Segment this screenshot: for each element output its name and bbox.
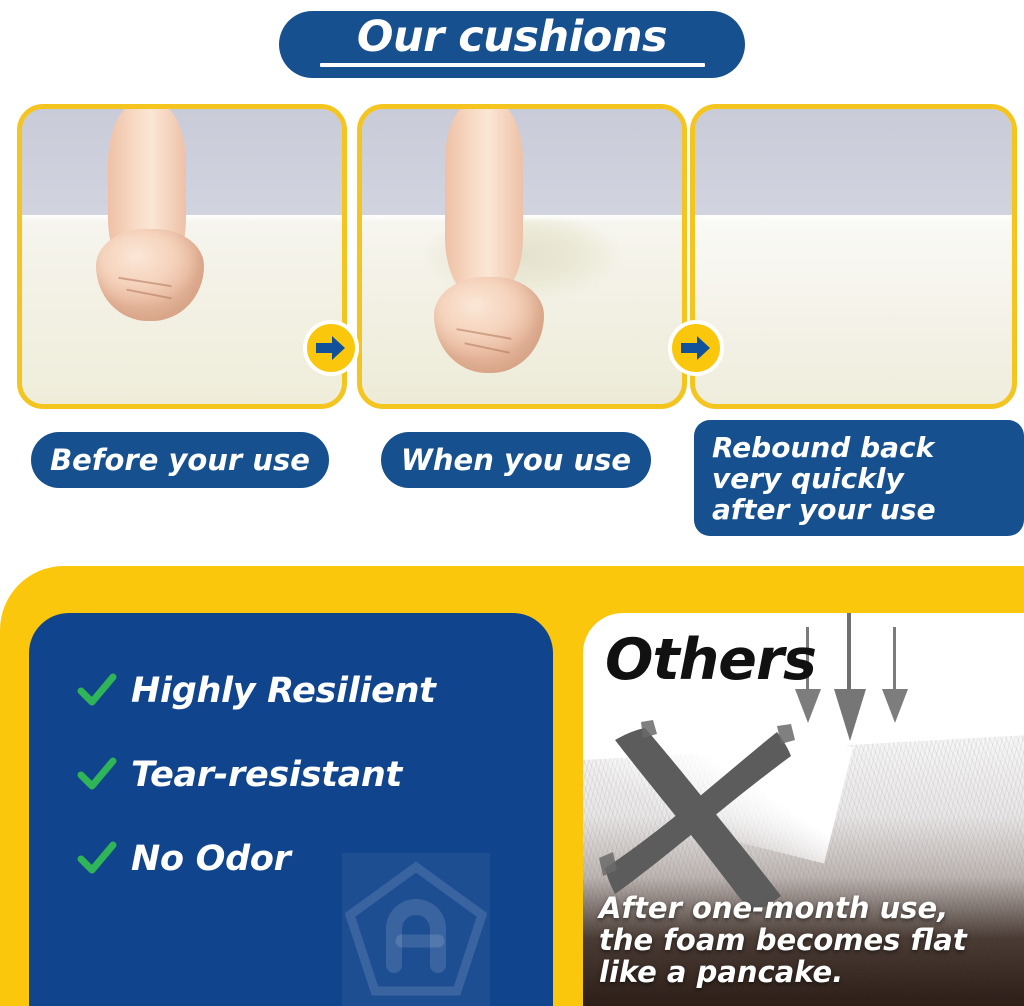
feature-item: Tear-resistant bbox=[77, 755, 402, 795]
others-caption: After one-month use, the foam becomes fl… bbox=[599, 892, 967, 988]
caption-line-3: after your use bbox=[712, 494, 936, 525]
caption-text: Before your use bbox=[50, 443, 310, 477]
feature-label: Tear-resistant bbox=[131, 755, 402, 795]
page-title-banner: Our cushions bbox=[279, 11, 745, 78]
caption-line-1: Rebound back bbox=[712, 432, 934, 463]
page-title: Our cushions bbox=[357, 13, 667, 61]
down-arrow-icon bbox=[879, 627, 911, 723]
feature-item: No Odor bbox=[77, 839, 291, 879]
feature-label: No Odor bbox=[131, 839, 291, 879]
infographic-root: Our cushions bbox=[0, 0, 1024, 1006]
others-title: Others bbox=[605, 630, 816, 690]
feature-label: Highly Resilient bbox=[131, 671, 436, 711]
check-icon bbox=[77, 841, 117, 877]
feature-item: Highly Resilient bbox=[77, 671, 436, 711]
others-card: Others bbox=[583, 613, 1024, 1006]
photo-background bbox=[695, 109, 1012, 224]
foam-surface-rebounded bbox=[695, 215, 1012, 404]
step-arrow-1 bbox=[303, 320, 359, 376]
arrow-right-icon bbox=[316, 335, 346, 361]
step-caption-rebound: Rebound back very quickly after your use bbox=[694, 420, 1024, 536]
down-arrow-icon bbox=[831, 613, 869, 741]
caption-text: When you use bbox=[401, 443, 631, 477]
x-brush-mark-icon bbox=[591, 718, 806, 918]
step-caption-when: When you use bbox=[381, 432, 651, 488]
others-caption-line-1: After one-month use, bbox=[599, 892, 967, 924]
caption-line-2: very quickly bbox=[712, 463, 904, 494]
check-icon bbox=[77, 673, 117, 709]
step-photo-when bbox=[357, 104, 687, 409]
check-icon bbox=[77, 757, 117, 793]
arrow-right-icon bbox=[681, 335, 711, 361]
step-arrow-2 bbox=[668, 320, 724, 376]
title-underline bbox=[320, 63, 705, 67]
step-photo-before bbox=[17, 104, 347, 409]
step-photo-rebound bbox=[690, 104, 1017, 409]
others-caption-line-3: like a pancake. bbox=[599, 956, 967, 988]
features-card: Highly Resilient Tear-resistant No Odor bbox=[29, 613, 553, 1006]
comparison-photo-row bbox=[0, 104, 1024, 404]
others-caption-line-2: the foam becomes flat bbox=[599, 924, 967, 956]
forearm bbox=[445, 104, 523, 297]
pentagon-brand-logo-icon bbox=[342, 853, 490, 1006]
step-caption-before: Before your use bbox=[31, 432, 329, 488]
